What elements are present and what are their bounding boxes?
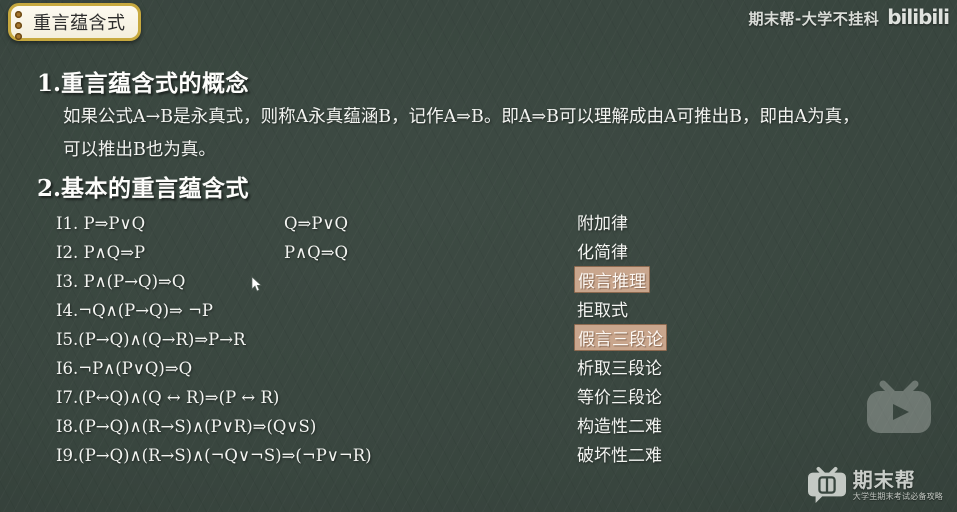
- section-title: 重言蕴含式的概念: [61, 64, 249, 98]
- section-title: 基本的重言蕴含式: [61, 169, 249, 203]
- formula-cell: I9.(P→Q)∧(R→S)∧(¬Q∨¬S)⇒(¬P∨¬R): [56, 446, 284, 465]
- section-number: 1.: [37, 70, 61, 97]
- slide-title-tab: 重言蕴含式: [8, 3, 141, 41]
- bilibili-tv-watermark-icon: [863, 379, 935, 437]
- formula-alt-cell: Q⇒P∨Q: [284, 214, 574, 233]
- table-row: I7.(P↔Q)∧(Q ↔ R)⇒(P ↔ R)等价三段论: [56, 382, 756, 411]
- table-row: I2. P∧Q⇒PP∧Q⇒Q化简律: [56, 237, 756, 266]
- brand-lockup: 期末帮 大学生期末考试必备攻略: [808, 466, 943, 504]
- slide-title: 重言蕴含式: [33, 9, 126, 35]
- table-row: I3. P∧(P→Q)⇒Q假言推理: [56, 266, 756, 295]
- table-row: I4.¬Q∧(P→Q)⇒ ¬P拒取式: [56, 295, 756, 324]
- brand-name: 期末帮: [853, 470, 943, 490]
- table-row: I5.(P→Q)∧(Q→R)⇒P→R假言三段论: [56, 324, 756, 353]
- brand-text: 期末帮 大学生期末考试必备攻略: [853, 470, 943, 501]
- brand-subtitle: 大学生期末考试必备攻略: [853, 493, 943, 501]
- rule-name: 等价三段论: [574, 382, 665, 409]
- rule-name: 破坏性二难: [574, 440, 665, 467]
- binder-ring-icon: [15, 11, 22, 18]
- binder-ring-icon: [15, 33, 22, 40]
- binder-ring-icon: [15, 22, 22, 29]
- watermark-text: 期末帮-大学不挂科: [749, 8, 880, 29]
- table-row: I8.(P→Q)∧(R→S)∧(P∨R)⇒(Q∨S)构造性二难: [56, 411, 756, 440]
- formula-table: I1. P⇒P∨QQ⇒P∨Q附加律I2. P∧Q⇒PP∧Q⇒Q化简律I3. P∧…: [56, 208, 756, 469]
- mouse-cursor-icon: [251, 276, 263, 293]
- rule-name: 析取三段论: [574, 353, 665, 380]
- slide-canvas: 重言蕴含式 期末帮-大学不挂科 bilibili 1. 重言蕴含式的概念 如果公…: [0, 0, 957, 512]
- rule-name-highlighted: 假言三段论: [574, 324, 667, 351]
- section-heading-2: 2. 基本的重言蕴含式: [37, 169, 249, 203]
- formula-cell: I2. P∧Q⇒P: [56, 243, 284, 262]
- formula-cell: I3. P∧(P→Q)⇒Q: [56, 272, 284, 291]
- formula-cell: I1. P⇒P∨Q: [56, 214, 284, 233]
- table-row: I1. P⇒P∨QQ⇒P∨Q附加律: [56, 208, 756, 237]
- formula-cell: I8.(P→Q)∧(R→S)∧(P∨R)⇒(Q∨S): [56, 417, 284, 436]
- formula-cell: I6.¬P∧(P∨Q)⇒Q: [56, 359, 284, 378]
- formula-cell: I7.(P↔Q)∧(Q ↔ R)⇒(P ↔ R): [56, 388, 284, 407]
- rule-name: 拒取式: [574, 295, 631, 322]
- rule-name: 附加律: [574, 208, 631, 235]
- rule-name-highlighted: 假言推理: [574, 266, 650, 293]
- formula-cell: I5.(P→Q)∧(Q→R)⇒P→R: [56, 330, 284, 349]
- formula-alt-cell: P∧Q⇒Q: [284, 243, 574, 262]
- rule-name: 构造性二难: [574, 411, 665, 438]
- section-heading-1: 1. 重言蕴含式的概念: [37, 64, 249, 98]
- binder-rings: [15, 11, 22, 40]
- table-row: I9.(P→Q)∧(R→S)∧(¬Q∨¬S)⇒(¬P∨¬R)破坏性二难: [56, 440, 756, 469]
- formula-cell: I4.¬Q∧(P→Q)⇒ ¬P: [56, 301, 284, 320]
- qimobang-logo-icon: [808, 466, 846, 504]
- top-watermark: 期末帮-大学不挂科 bilibili: [749, 6, 950, 30]
- section-number: 2.: [37, 175, 61, 202]
- bilibili-logo-icon: bilibili: [887, 5, 949, 29]
- rule-name: 化简律: [574, 237, 631, 264]
- concept-paragraph: 如果公式A→B是永真式，则称A永真蕴涵B，记作A⇒B。即A⇒B可以理解成由A可推…: [63, 101, 863, 167]
- table-row: I6.¬P∧(P∨Q)⇒Q析取三段论: [56, 353, 756, 382]
